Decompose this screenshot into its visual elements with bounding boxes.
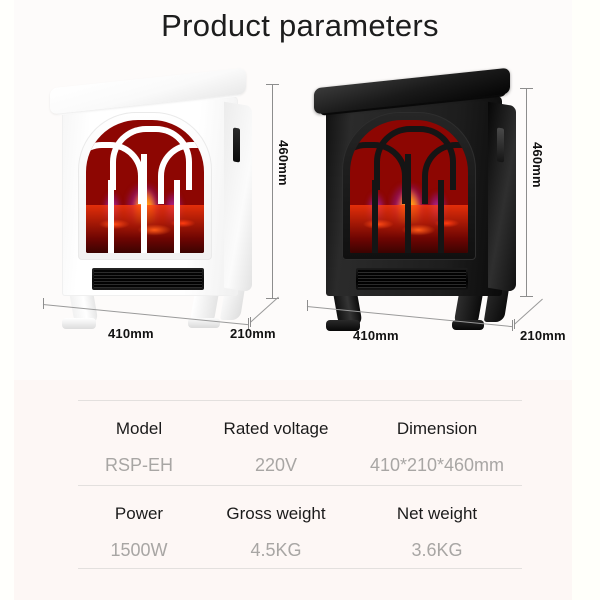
background-left-band [0, 0, 14, 600]
heater-grille [92, 268, 204, 290]
heater-grille [356, 268, 468, 290]
product-parameters-page: Product parameters [0, 0, 600, 600]
dimension-label-width: 410mm [353, 328, 399, 343]
dimension-line-height [526, 88, 527, 296]
table-value-rated-voltage: 220V [200, 456, 352, 474]
table-header-power: Power [78, 505, 200, 522]
window-mullion-vertical-1 [108, 180, 114, 253]
table-row: Model Rated voltage Dimension [78, 420, 522, 437]
dimension-cap-width-right [512, 320, 513, 331]
product-image-black-stove [312, 72, 522, 312]
table-value-net-weight: 3.6KG [352, 541, 522, 559]
table-value-model: RSP-EH [78, 456, 200, 474]
control-switch-icon[interactable] [233, 127, 240, 162]
window-mullion-vertical-3 [174, 180, 180, 253]
table-header-dimension: Dimension [352, 420, 522, 437]
table-value-gross-weight: 4.5KG [200, 541, 352, 559]
dimension-label-depth: 210mm [520, 328, 566, 343]
background-lower [0, 380, 600, 600]
table-rule-top [78, 400, 522, 401]
dimension-cap-height-top [266, 84, 279, 85]
window-mullion-vertical-1 [372, 180, 378, 253]
window-mullion-vertical-2 [141, 154, 147, 253]
dimension-cap-height-bottom [520, 296, 533, 297]
table-row: Power Gross weight Net weight [78, 505, 522, 522]
window-mullion-vertical-2 [405, 154, 411, 253]
dimension-label-height: 460mm [276, 140, 291, 186]
fireplace-flame-view [350, 120, 468, 253]
dimension-cap-depth-near [514, 319, 515, 329]
background-right-band [572, 0, 600, 600]
table-rule-bottom [78, 568, 522, 569]
dimension-cap-height-top [520, 88, 533, 89]
table-value-power: 1500W [78, 541, 200, 559]
table-header-net-weight: Net weight [352, 505, 522, 522]
dimension-line-height [272, 84, 273, 298]
stove-foot-front-left [62, 318, 96, 329]
dimension-label-width: 410mm [108, 326, 154, 341]
table-header-rated-voltage: Rated voltage [200, 420, 352, 437]
table-value-dimension: 410*210*460mm [352, 456, 522, 474]
product-image-white-stove [48, 72, 258, 312]
table-rule-middle [78, 485, 522, 486]
table-header-model: Model [78, 420, 200, 437]
control-switch-icon[interactable] [497, 127, 504, 162]
grille-slats [94, 270, 202, 288]
window-mullion-vertical-3 [438, 180, 444, 253]
grille-slats [358, 270, 466, 288]
dimension-cap-width-left [43, 298, 44, 309]
dimension-cap-width-left [307, 300, 308, 311]
page-title: Product parameters [0, 8, 600, 44]
dimension-label-depth: 210mm [230, 326, 276, 341]
table-row: 1500W 4.5KG 3.6KG [78, 541, 522, 559]
fireplace-flame-view [86, 120, 204, 253]
table-header-gross-weight: Gross weight [200, 505, 352, 522]
table-row: RSP-EH 220V 410*210*460mm [78, 456, 522, 474]
dimension-label-height: 460mm [530, 142, 545, 188]
